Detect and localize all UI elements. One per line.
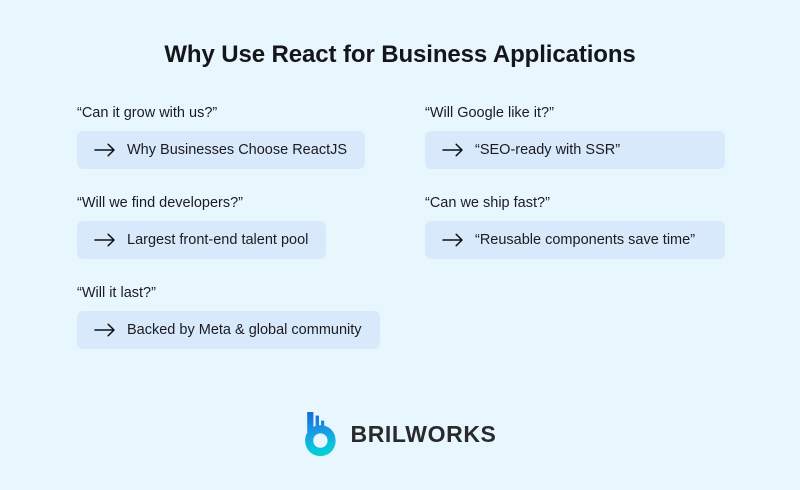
qa-item: “Will it last?” Backed by Meta & global … bbox=[77, 283, 380, 349]
qa-answer-text: “Reusable components save time” bbox=[475, 230, 695, 250]
qa-column-left: “Can it grow with us?” Why Businesses Ch… bbox=[77, 103, 377, 373]
qa-answer-chip[interactable]: Largest front-end talent pool bbox=[77, 221, 326, 259]
qa-question: “Will we find developers?” bbox=[77, 193, 243, 213]
qa-item: “Can it grow with us?” Why Businesses Ch… bbox=[77, 103, 365, 169]
qa-question: “Will Google like it?” bbox=[425, 103, 554, 123]
qa-answer-chip[interactable]: “SEO-ready with SSR” bbox=[425, 131, 725, 169]
brand-logo: BRILWORKS bbox=[0, 410, 800, 458]
qa-answer-chip[interactable]: Why Businesses Choose ReactJS bbox=[77, 131, 365, 169]
qa-question: “Can it grow with us?” bbox=[77, 103, 217, 123]
arrow-right-icon bbox=[94, 323, 116, 337]
qa-answer-text: Largest front-end talent pool bbox=[127, 230, 308, 250]
qa-item: “Will Google like it?” “SEO-ready with S… bbox=[425, 103, 725, 169]
qa-item: “Can we ship fast?” “Reusable components… bbox=[425, 193, 725, 259]
arrow-right-icon bbox=[442, 143, 464, 157]
qa-question: “Will it last?” bbox=[77, 283, 156, 303]
brilworks-b-mark-icon bbox=[304, 410, 340, 458]
qa-answer-chip[interactable]: Backed by Meta & global community bbox=[77, 311, 380, 349]
qa-question: “Can we ship fast?” bbox=[425, 193, 550, 213]
qa-columns: “Can it grow with us?” Why Businesses Ch… bbox=[77, 103, 725, 373]
qa-column-right: “Will Google like it?” “SEO-ready with S… bbox=[425, 103, 725, 373]
page-title: Why Use React for Business Applications bbox=[0, 38, 800, 72]
qa-answer-chip[interactable]: “Reusable components save time” bbox=[425, 221, 725, 259]
arrow-right-icon bbox=[442, 233, 464, 247]
arrow-right-icon bbox=[94, 233, 116, 247]
arrow-right-icon bbox=[94, 143, 116, 157]
qa-answer-text: Backed by Meta & global community bbox=[127, 320, 362, 340]
slide-root: Why Use React for Business Applications … bbox=[0, 0, 800, 490]
brand-wordmark: BRILWORKS bbox=[351, 421, 497, 447]
qa-item: “Will we find developers?” Largest front… bbox=[77, 193, 326, 259]
qa-answer-text: Why Businesses Choose ReactJS bbox=[127, 140, 347, 160]
qa-answer-text: “SEO-ready with SSR” bbox=[475, 140, 620, 160]
